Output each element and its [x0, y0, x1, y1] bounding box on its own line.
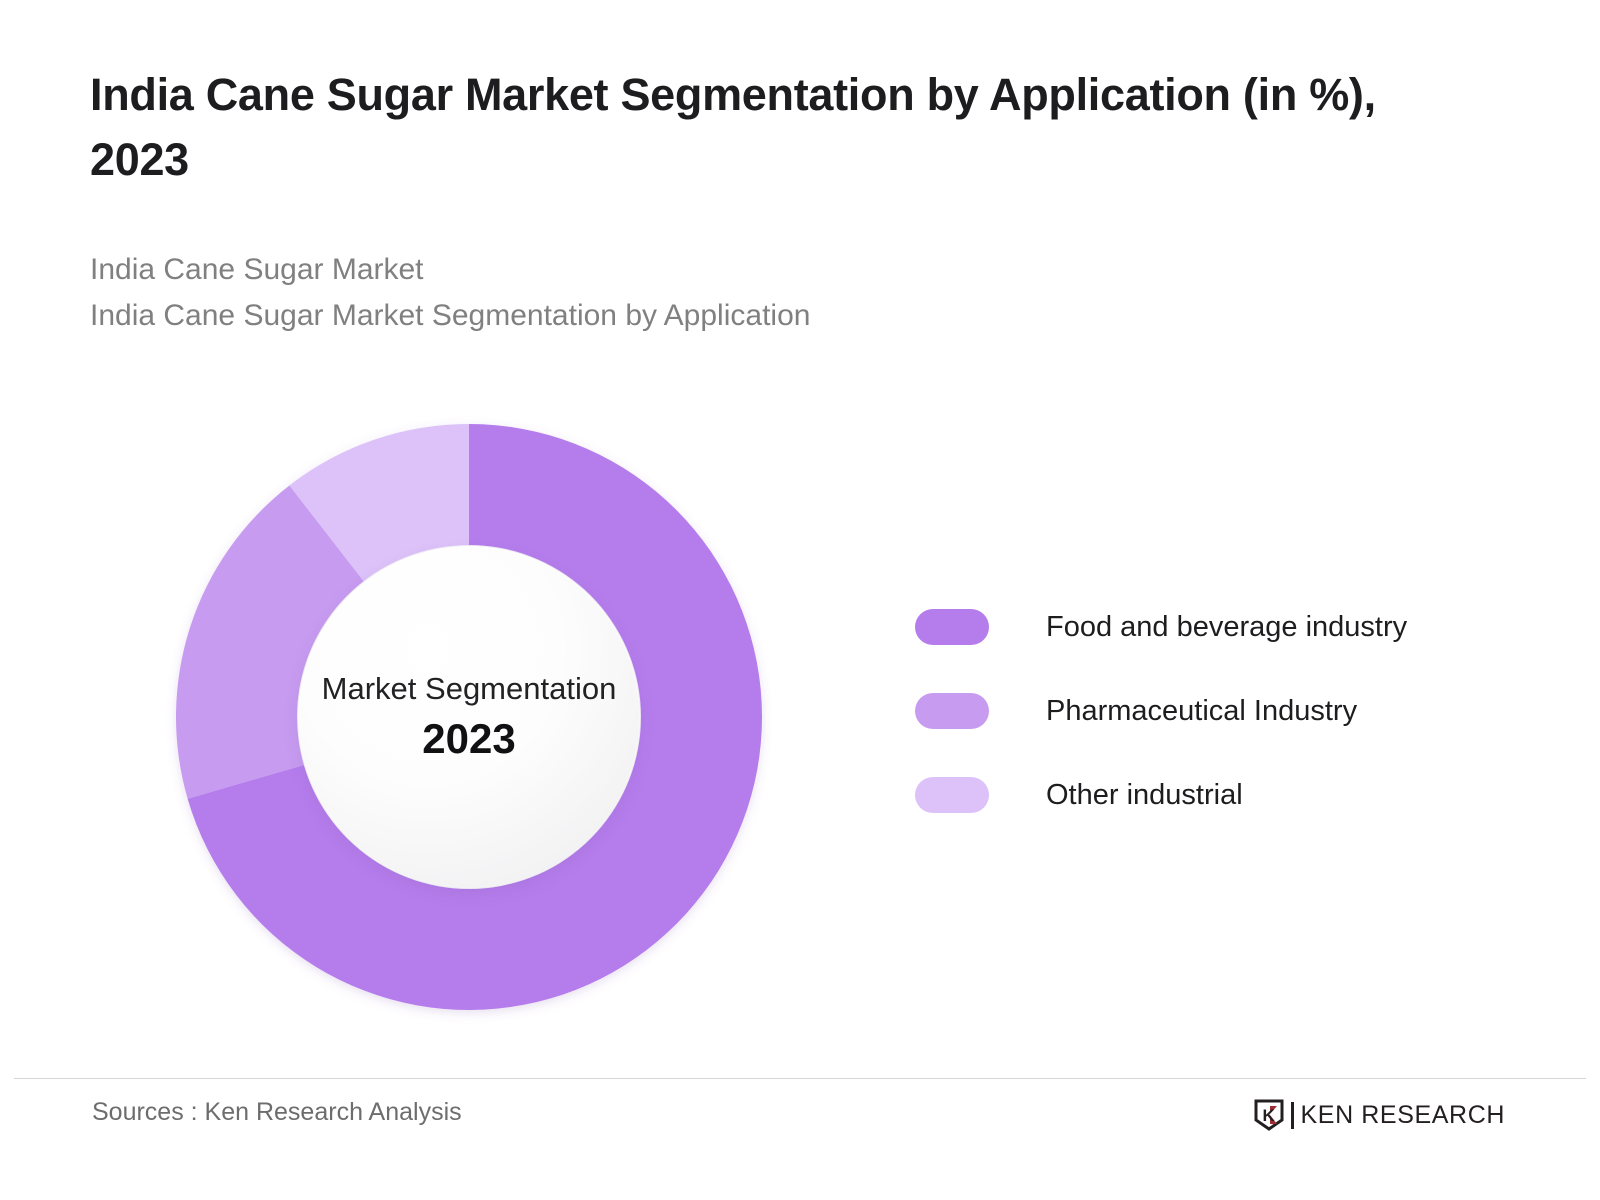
ken-research-logo: K KEN RESEARCH: [1254, 1098, 1505, 1132]
chart-legend: Food and beverage industryPharmaceutical…: [915, 585, 1535, 837]
donut-center-label: Market Segmentation: [322, 669, 617, 709]
svg-text:K: K: [1262, 1106, 1275, 1125]
legend-item[interactable]: Food and beverage industry: [915, 585, 1535, 669]
chart-card: India Cane Sugar Market Segmentation by …: [0, 0, 1600, 1200]
legend-label: Food and beverage industry: [1046, 611, 1407, 644]
legend-item[interactable]: Pharmaceutical Industry: [915, 669, 1535, 753]
ken-research-mark-icon: K: [1254, 1099, 1284, 1131]
legend-swatch-icon: [915, 693, 989, 729]
legend-swatch-icon: [915, 777, 989, 813]
source-note: Sources : Ken Research Analysis: [92, 1098, 462, 1127]
chart-area: Market Segmentation 2023 Food and bevera…: [0, 400, 1600, 1050]
donut-center: Market Segmentation 2023: [298, 546, 640, 888]
chart-header: India Cane Sugar Market Segmentation by …: [90, 62, 1490, 340]
shield-k-icon: K: [1254, 1099, 1284, 1131]
legend-swatch-icon: [915, 609, 989, 645]
subtitle-block: India Cane Sugar Market India Cane Sugar…: [90, 247, 1490, 340]
donut-chart: Market Segmentation 2023: [174, 422, 764, 1012]
subtitle-line-1: India Cane Sugar Market: [90, 247, 1490, 294]
subtitle-line-2: India Cane Sugar Market Segmentation by …: [90, 293, 1490, 340]
donut-center-value: 2023: [422, 713, 515, 766]
legend-label: Other industrial: [1046, 779, 1243, 812]
legend-item[interactable]: Other industrial: [915, 753, 1535, 837]
footer-divider: [14, 1078, 1586, 1079]
page-title: India Cane Sugar Market Segmentation by …: [90, 62, 1480, 193]
legend-label: Pharmaceutical Industry: [1046, 695, 1357, 728]
logo-divider: [1291, 1102, 1294, 1129]
brand-name: KEN RESEARCH: [1301, 1101, 1505, 1130]
